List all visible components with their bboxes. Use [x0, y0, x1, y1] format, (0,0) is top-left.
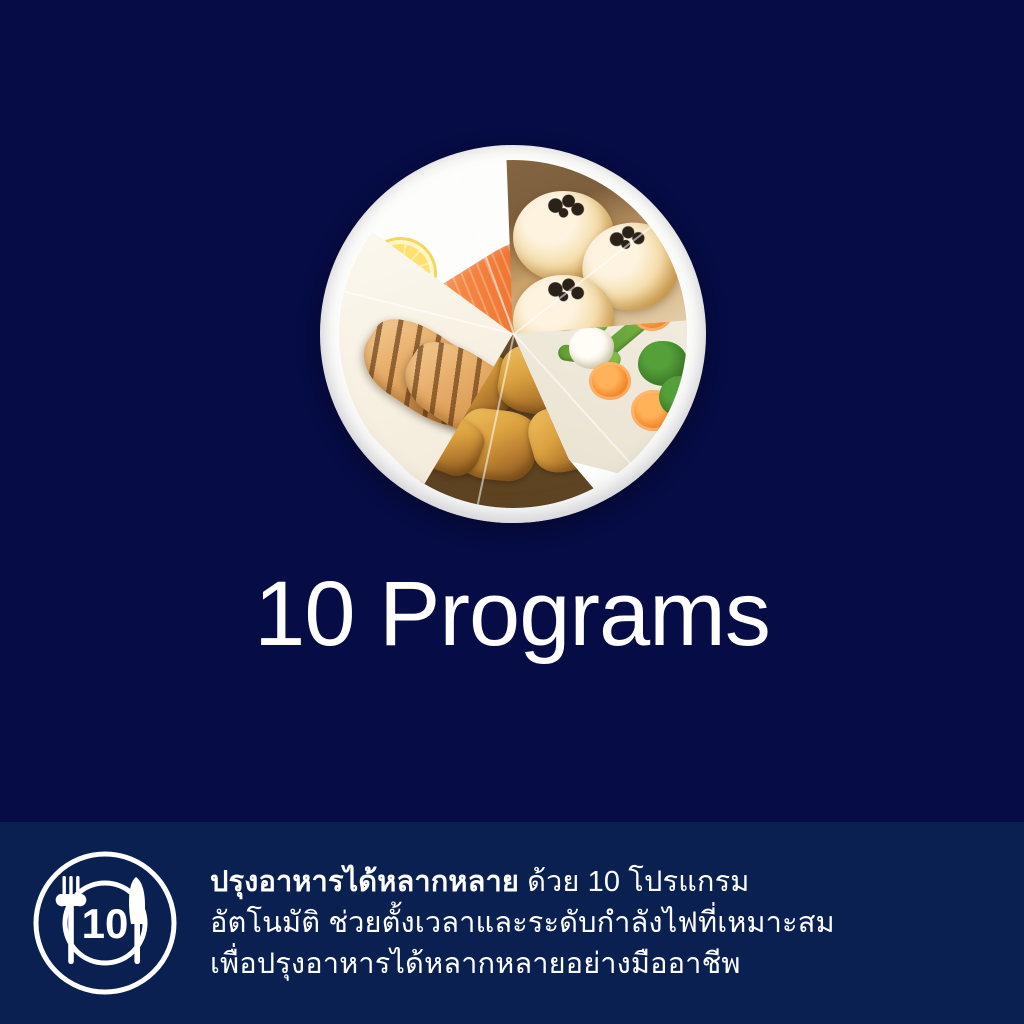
- food-plate-image: [320, 145, 706, 523]
- caption-line-3: เพื่อปรุงอาหารได้หลากหลายอย่างมืออาชีพ: [210, 944, 944, 985]
- caption-bar: 10 ปรุงอาหารได้หลากหลาย ด้วย 10 โปรแกรม …: [0, 822, 1024, 1024]
- promo-banner: 10 Programs: [0, 0, 1024, 1024]
- hero-section: 10 Programs: [0, 0, 1024, 822]
- caption-icon-wrapper: 10: [0, 850, 210, 996]
- icon-badge-number: 10: [82, 900, 129, 947]
- plate-fork-knife-10-icon: 10: [32, 850, 178, 996]
- caption-line-2: อัตโนมัติ ช่วยตั้งเวลาและระดับกำลังไฟที่…: [210, 903, 944, 944]
- caption-line-1: ปรุงอาหารได้หลากหลาย ด้วย 10 โปรแกรม: [210, 862, 944, 903]
- page-title: 10 Programs: [0, 566, 1024, 662]
- caption-text: ปรุงอาหารได้หลากหลาย ด้วย 10 โปรแกรม อัต…: [210, 862, 1024, 985]
- carrot-slice: [589, 362, 631, 400]
- food-collage: [339, 160, 686, 508]
- plate-disc: [320, 145, 706, 523]
- caption-line-1-rest: ด้วย 10 โปรแกรม: [519, 866, 750, 898]
- caption-line-1-strong: ปรุงอาหารได้หลากหลาย: [210, 866, 519, 898]
